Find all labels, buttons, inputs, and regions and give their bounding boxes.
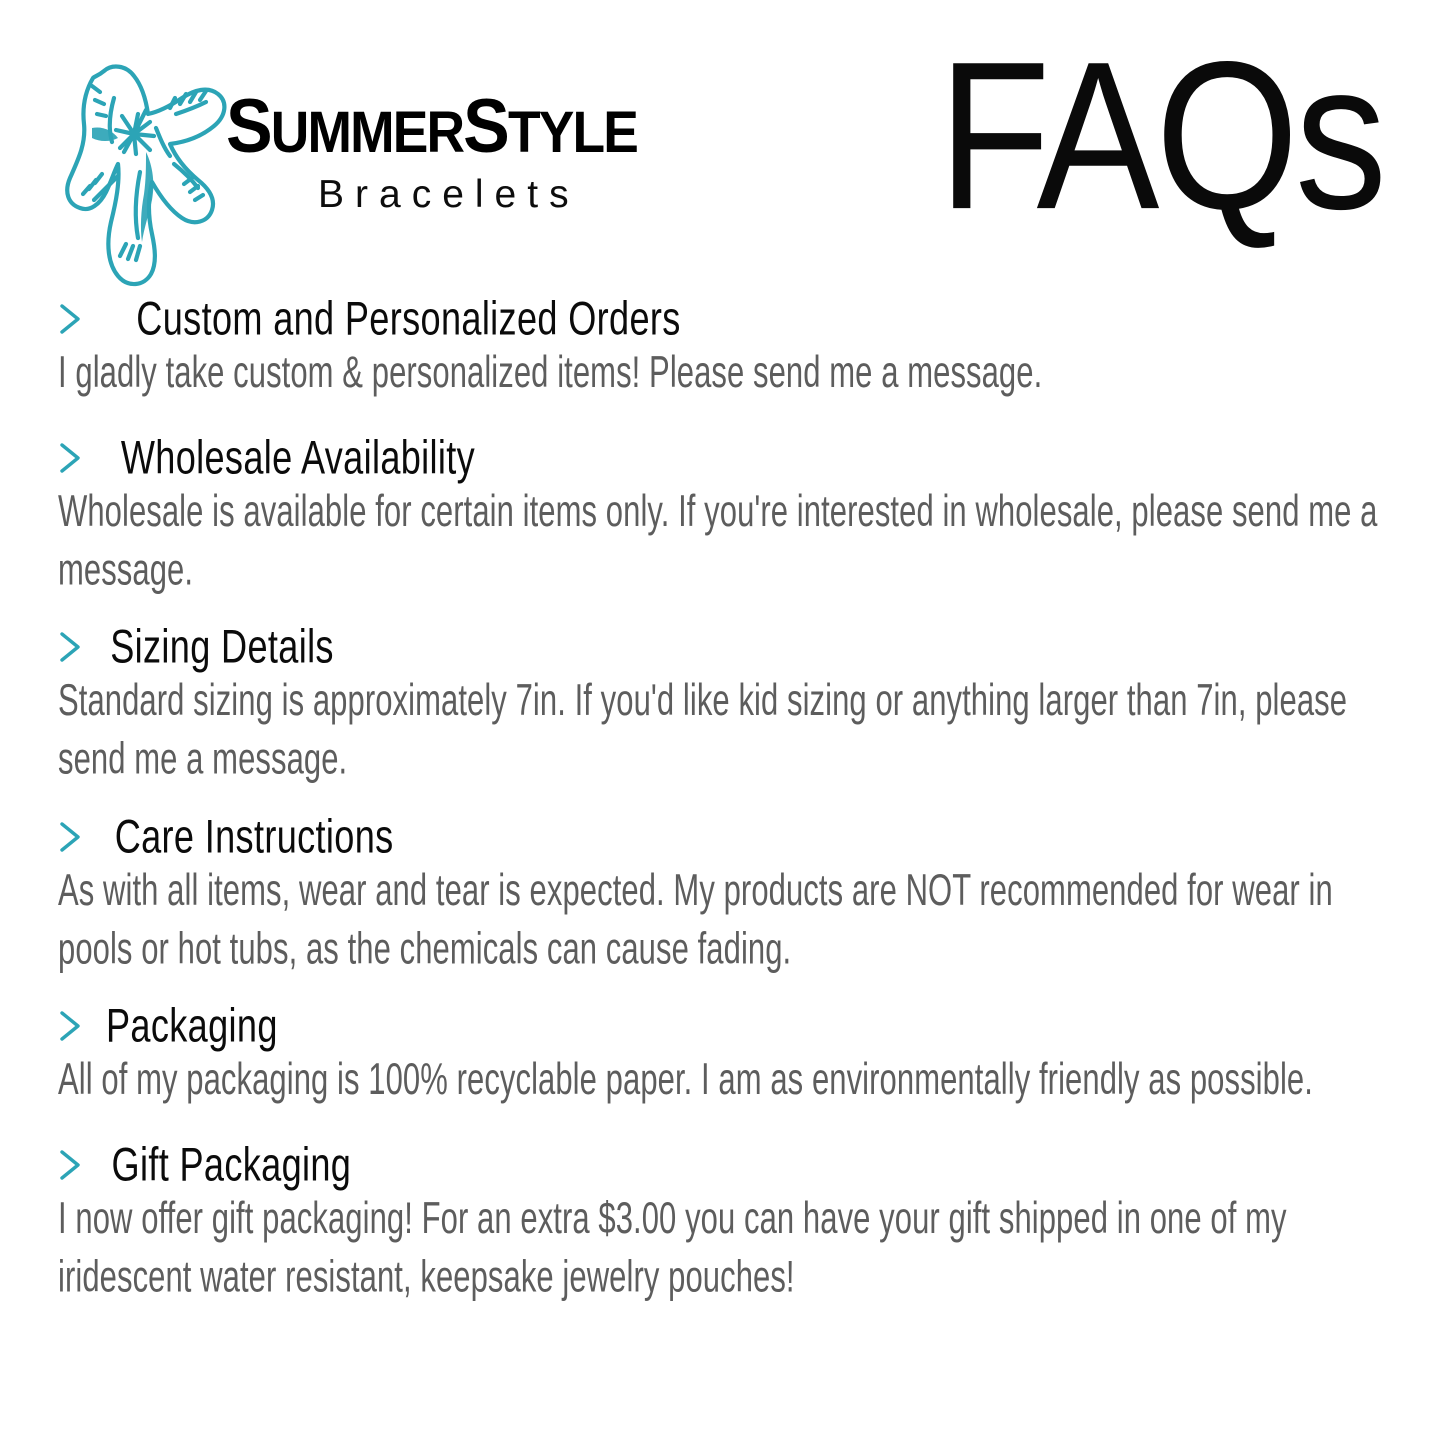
faq-question-label: Packaging [106,1002,278,1051]
page-header: SUMMERSTYLE Bracelets FAQs [0,0,1445,285]
chevron-right-icon [58,441,84,475]
faq-question-label: Custom and Personalized Orders [136,294,680,343]
faq-answer: I gladly take custom & personalized item… [58,345,1387,403]
brand-subtitle: Bracelets [318,173,673,217]
faq-item-sizing: Sizing Details Standard sizing is approx… [58,625,1385,774]
faq-item-care: Care Instructions As with all items, wea… [58,815,1385,964]
faq-item-custom-orders: Custom and Personalized Orders I gladly … [58,297,1385,396]
chevron-right-icon [58,1148,84,1182]
chevron-right-icon [58,1009,84,1043]
faq-question-label: Gift Packaging [112,1140,352,1189]
faq-question[interactable]: Gift Packaging [58,1143,1385,1187]
faq-answer: I now offer gift packaging! For an extra… [58,1191,1387,1307]
chevron-right-icon [58,630,84,664]
faq-question[interactable]: Packaging [58,1004,1385,1048]
faq-question-label: Sizing Details [110,623,334,672]
faq-question-label: Care Instructions [115,812,394,861]
faq-question[interactable]: Care Instructions [58,815,1385,859]
faq-answer: Standard sizing is approximately 7in. If… [58,673,1387,789]
brand-wordmark: SUMMERSTYLE [226,94,637,159]
faq-question[interactable]: Wholesale Availability [58,436,1385,480]
chevron-right-icon [58,820,84,854]
faq-page: SUMMERSTYLE Bracelets FAQs Custom and Pe… [0,0,1445,1445]
faq-item-packaging: Packaging All of my packaging is 100% re… [58,1004,1385,1103]
faq-list: Custom and Personalized Orders I gladly … [0,297,1445,1292]
brand-logo: SUMMERSTYLE Bracelets [56,28,673,292]
brand-text: SUMMERSTYLE Bracelets [226,94,673,217]
faq-answer: As with all items, wear and tear is expe… [58,863,1387,979]
page-title: FAQs [938,30,1383,241]
faq-answer: Wholesale is available for certain items… [58,484,1387,600]
faq-question-label: Wholesale Availability [121,433,475,482]
faq-question[interactable]: Sizing Details [58,625,1385,669]
faq-item-wholesale: Wholesale Availability Wholesale is avai… [58,436,1385,585]
faq-item-gift-packaging: Gift Packaging I now offer gift packagin… [58,1143,1385,1292]
chevron-right-icon [58,302,84,336]
starfish-icon [56,32,238,292]
faq-question[interactable]: Custom and Personalized Orders [58,297,1385,341]
faq-answer: All of my packaging is 100% recyclable p… [58,1052,1387,1110]
